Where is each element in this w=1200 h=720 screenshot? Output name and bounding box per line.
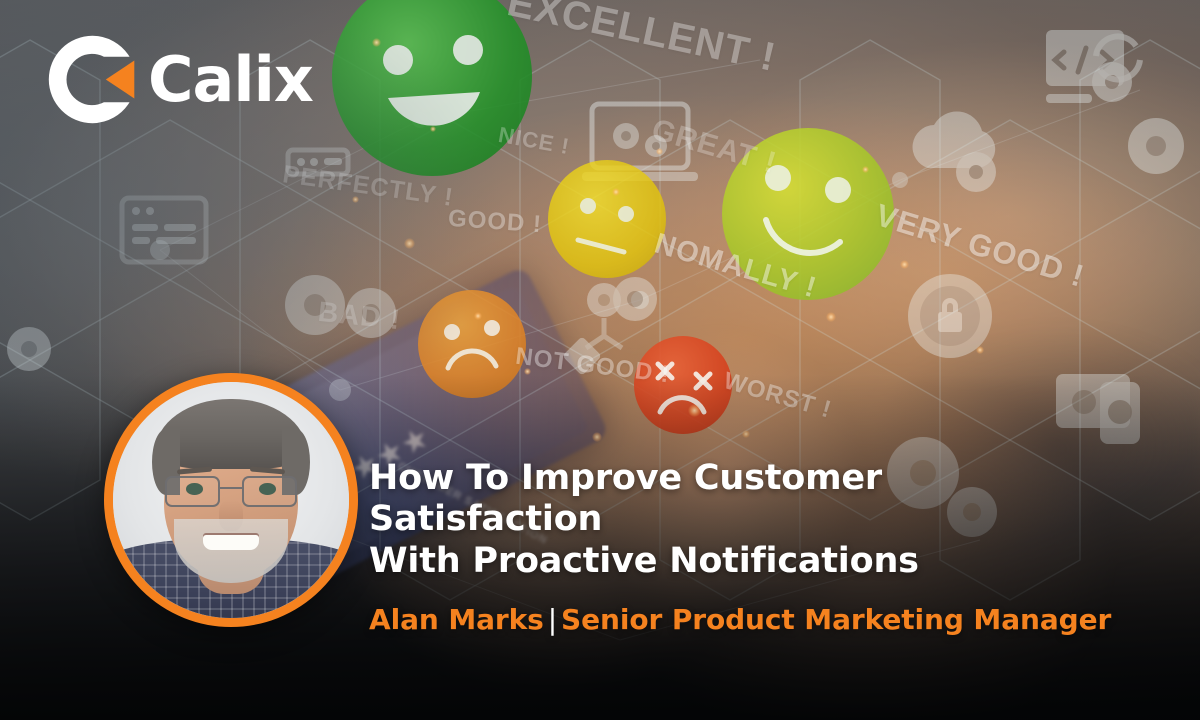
calix-c-arrow-logo-icon [45,32,140,127]
calix-wordmark: Calix [148,49,313,111]
calix-logo[interactable]: Calix [45,32,313,127]
slide-title-line-2: With Proactive Notifications [369,541,1109,582]
byline-separator: | [544,603,561,636]
presenter-byline: Alan Marks|Senior Product Marketing Mana… [369,603,1109,636]
presenter-role: Senior Product Marketing Manager [561,603,1111,636]
slide-title-line-1: How To Improve Customer Satisfaction [369,458,1109,541]
presenter-name: Alan Marks [369,603,544,636]
slide-title: How To Improve Customer Satisfaction Wit… [369,458,1109,582]
presenter-avatar [104,373,358,627]
mouth [203,535,260,549]
presenter-photo [113,382,349,618]
presentation-slide: ★★★★★ CUSTOMER SATISFACTION [0,0,1200,720]
text-block: How To Improve Customer Satisfaction Wit… [369,458,1109,636]
